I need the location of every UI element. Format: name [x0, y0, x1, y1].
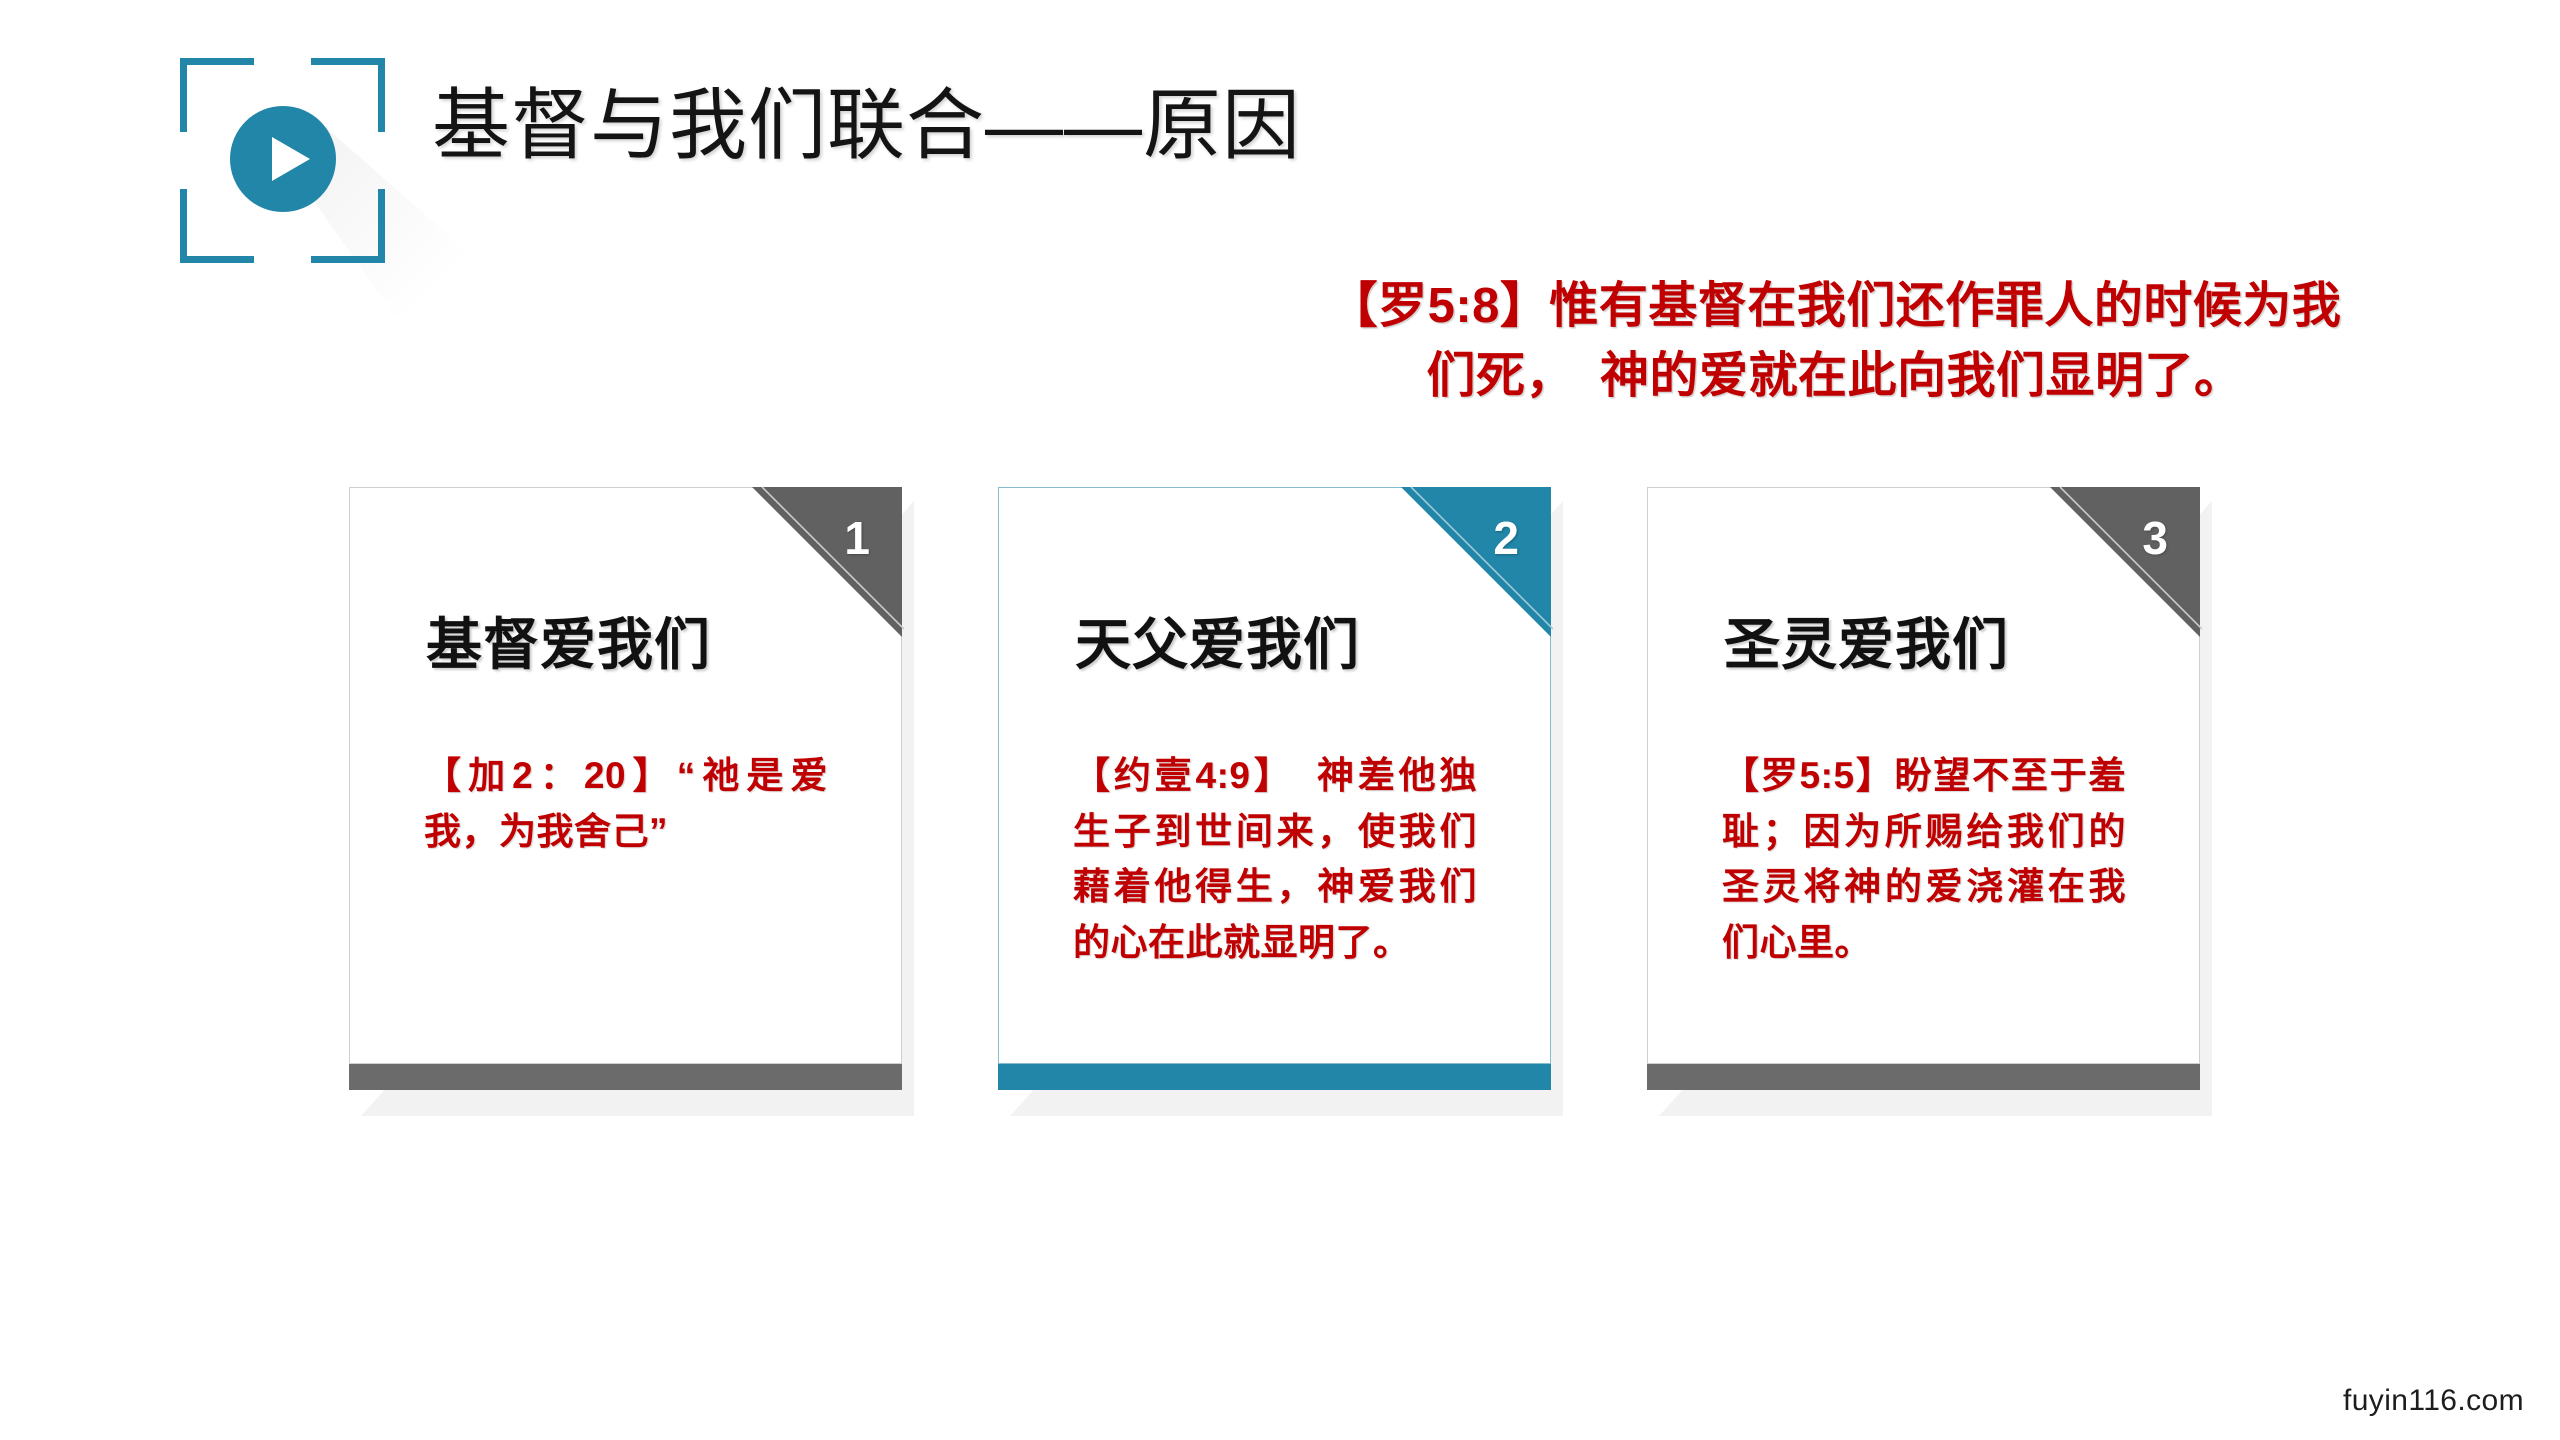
card-title: 天父爱我们 [1075, 611, 1360, 678]
card-bottom-bar [349, 1064, 902, 1090]
card-bottom-bar [998, 1064, 1551, 1090]
card-verse: 【加2：20】“祂是爱我，为我舍己” [424, 748, 828, 859]
card-body: 圣灵爱我们 【罗5:5】盼望不至于羞耻；因为所赐给我们的圣灵将神的爱浇灌在我们心… [1647, 487, 2200, 1064]
card-group: 基督爱我们 【加2：20】“祂是爱我，为我舍己” 1 天父爱我们 【约壹4:9】… [0, 0, 2560, 1440]
card-verse: 【罗5:5】盼望不至于羞耻；因为所赐给我们的圣灵将神的爱浇灌在我们心里。 [1722, 748, 2126, 970]
slide-canvas: 基督与我们联合——原因 【罗5:8】惟有基督在我们还作罪人的时候为我 们死， 神… [0, 0, 2560, 1440]
card-spirit-loves-us[interactable]: 圣灵爱我们 【罗5:5】盼望不至于羞耻；因为所赐给我们的圣灵将神的爱浇灌在我们心… [1647, 487, 2200, 1102]
card-body: 天父爱我们 【约壹4:9】 神差他独生子到世间来，使我们藉着他得生，神爱我们的心… [998, 487, 1551, 1064]
card-body: 基督爱我们 【加2：20】“祂是爱我，为我舍己” [349, 487, 902, 1064]
card-title: 基督爱我们 [426, 611, 711, 678]
card-bottom-bar [1647, 1064, 2200, 1090]
card-number: 3 [2142, 515, 2168, 561]
card-father-loves-us[interactable]: 天父爱我们 【约壹4:9】 神差他独生子到世间来，使我们藉着他得生，神爱我们的心… [998, 487, 1551, 1102]
card-number: 2 [1493, 515, 1519, 561]
card-christ-loves-us[interactable]: 基督爱我们 【加2：20】“祂是爱我，为我舍己” 1 [349, 487, 902, 1102]
card-number: 1 [844, 515, 870, 561]
card-title: 圣灵爱我们 [1724, 611, 2009, 678]
card-verse: 【约壹4:9】 神差他独生子到世间来，使我们藉着他得生，神爱我们的心在此就显明了… [1073, 748, 1477, 970]
site-watermark: fuyin116.com [2343, 1384, 2524, 1418]
